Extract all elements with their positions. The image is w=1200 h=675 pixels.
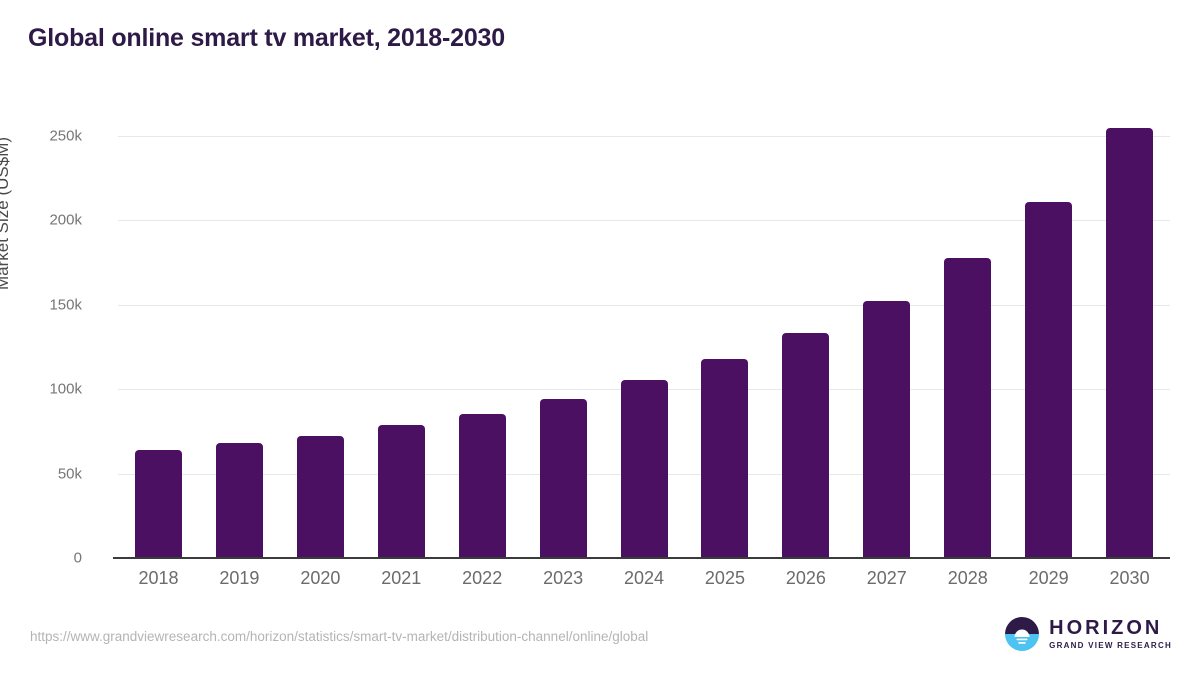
bar-slot	[118, 115, 199, 558]
y-tick-label: 250k	[2, 128, 82, 145]
bar-slot	[199, 115, 280, 558]
bar[interactable]	[1025, 202, 1072, 558]
x-axis-labels: 2018201920202021202220232024202520262027…	[118, 568, 1170, 598]
x-tick-label: 2027	[846, 568, 927, 589]
bar[interactable]	[459, 414, 506, 558]
chart-page: Global online smart tv market, 2018-2030…	[0, 0, 1200, 675]
horizon-sun-circle-icon	[1004, 616, 1040, 652]
x-tick-label: 2029	[1008, 568, 1089, 589]
page-title: Global online smart tv market, 2018-2030	[28, 24, 505, 53]
x-tick-label: 2028	[927, 568, 1008, 589]
horizon-logo[interactable]: HORIZON GRAND VIEW RESEARCH	[1004, 616, 1172, 652]
logo-text: HORIZON GRAND VIEW RESEARCH	[1049, 618, 1172, 650]
y-tick-label: 50k	[2, 465, 82, 482]
bar[interactable]	[378, 425, 425, 558]
y-tick-label: 200k	[2, 212, 82, 229]
x-tick-label: 2025	[684, 568, 765, 589]
bar[interactable]	[216, 443, 263, 558]
x-tick-label: 2020	[280, 568, 361, 589]
x-tick-label: 2024	[604, 568, 685, 589]
bar-slot	[523, 115, 604, 558]
bar-series	[118, 115, 1170, 558]
bar[interactable]	[782, 333, 829, 558]
bar[interactable]	[621, 380, 668, 558]
bar-slot	[927, 115, 1008, 558]
source-url[interactable]: https://www.grandviewresearch.com/horizo…	[30, 629, 648, 644]
bar-slot	[361, 115, 442, 558]
bar-slot	[684, 115, 765, 558]
bar-slot	[846, 115, 927, 558]
x-tick-label: 2018	[118, 568, 199, 589]
bar[interactable]	[944, 258, 991, 558]
x-axis-line	[113, 557, 1170, 559]
y-tick-label: 0	[2, 550, 82, 567]
bar[interactable]	[297, 436, 344, 558]
bar-slot	[1008, 115, 1089, 558]
bar[interactable]	[701, 359, 748, 558]
x-tick-label: 2030	[1089, 568, 1170, 589]
bar-slot	[442, 115, 523, 558]
x-tick-label: 2023	[523, 568, 604, 589]
bar[interactable]	[540, 399, 587, 558]
bar[interactable]	[1106, 128, 1153, 558]
bar-slot	[604, 115, 685, 558]
x-tick-label: 2021	[361, 568, 442, 589]
bar-slot	[280, 115, 361, 558]
x-tick-label: 2019	[199, 568, 280, 589]
logo-wordmark: HORIZON	[1049, 618, 1172, 638]
bar-slot	[765, 115, 846, 558]
bar[interactable]	[863, 301, 910, 558]
x-tick-label: 2022	[442, 568, 523, 589]
bar-slot	[1089, 115, 1170, 558]
bar[interactable]	[135, 450, 182, 559]
y-tick-label: 150k	[2, 296, 82, 313]
x-tick-label: 2026	[765, 568, 846, 589]
logo-tagline: GRAND VIEW RESEARCH	[1049, 642, 1172, 650]
y-tick-label: 100k	[2, 381, 82, 398]
